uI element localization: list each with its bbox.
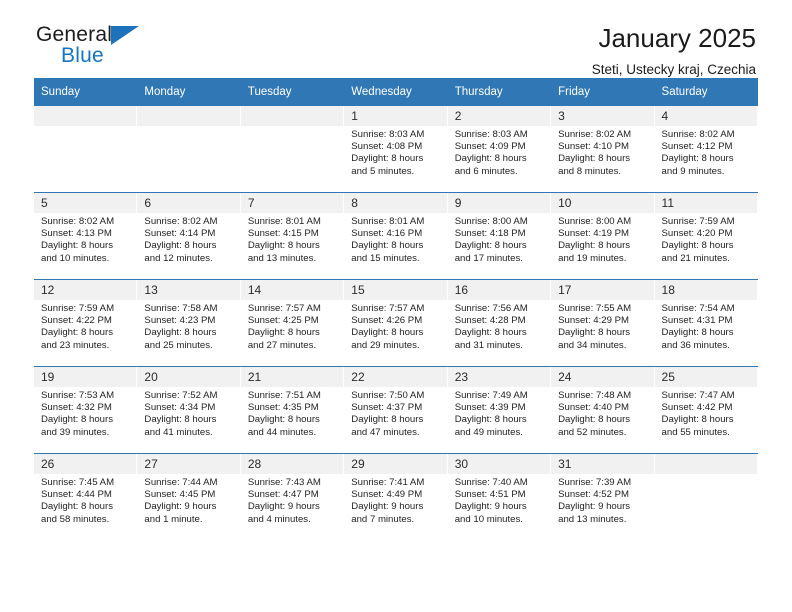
day-details	[655, 474, 757, 477]
day-detail-line: Sunrise: 8:00 AM	[558, 216, 647, 228]
day-box: 9Sunrise: 8:00 AMSunset: 4:18 PMDaylight…	[448, 193, 551, 279]
day-detail-line: Sunrise: 8:03 AM	[455, 129, 544, 141]
day-box: 25Sunrise: 7:47 AMSunset: 4:42 PMDayligh…	[655, 367, 758, 453]
day-details: Sunrise: 7:48 AMSunset: 4:40 PMDaylight:…	[551, 387, 653, 439]
day-number: 18	[655, 280, 757, 300]
day-detail-line: Daylight: 8 hours	[558, 153, 647, 165]
day-detail-line: Sunrise: 7:45 AM	[41, 477, 130, 489]
calendar-day-cell[interactable]: 13Sunrise: 7:58 AMSunset: 4:23 PMDayligh…	[137, 280, 240, 367]
day-details	[137, 126, 239, 129]
day-details: Sunrise: 7:40 AMSunset: 4:51 PMDaylight:…	[448, 474, 550, 526]
calendar-day-cell[interactable]: 28Sunrise: 7:43 AMSunset: 4:47 PMDayligh…	[241, 454, 344, 541]
calendar-day-cell[interactable]: 14Sunrise: 7:57 AMSunset: 4:25 PMDayligh…	[241, 280, 344, 367]
calendar-day-cell[interactable]: 18Sunrise: 7:54 AMSunset: 4:31 PMDayligh…	[655, 280, 758, 367]
day-number: 8	[344, 193, 446, 213]
calendar-week-row: 26Sunrise: 7:45 AMSunset: 4:44 PMDayligh…	[34, 454, 758, 541]
weekday-header-row: SundayMondayTuesdayWednesdayThursdayFrid…	[34, 78, 758, 106]
day-detail-line: and 19 minutes.	[558, 253, 647, 265]
day-detail-line: Sunrise: 7:49 AM	[455, 390, 544, 402]
day-number	[655, 454, 757, 474]
day-detail-line: Sunrise: 7:39 AM	[558, 477, 647, 489]
day-detail-line: and 6 minutes.	[455, 166, 544, 178]
day-detail-line: and 12 minutes.	[144, 253, 233, 265]
day-details: Sunrise: 8:02 AMSunset: 4:13 PMDaylight:…	[34, 213, 136, 265]
day-details: Sunrise: 7:53 AMSunset: 4:32 PMDaylight:…	[34, 387, 136, 439]
day-number: 15	[344, 280, 446, 300]
day-detail-line: Sunrise: 7:59 AM	[662, 216, 751, 228]
calendar-week-row: 1Sunrise: 8:03 AMSunset: 4:08 PMDaylight…	[34, 106, 758, 193]
day-number: 14	[241, 280, 343, 300]
day-number: 1	[344, 106, 446, 126]
day-detail-line: Sunrise: 8:01 AM	[351, 216, 440, 228]
day-detail-line: Sunset: 4:31 PM	[662, 315, 751, 327]
day-detail-line: Daylight: 8 hours	[558, 327, 647, 339]
day-detail-line: Sunset: 4:37 PM	[351, 402, 440, 414]
day-detail-line: Daylight: 8 hours	[558, 414, 647, 426]
day-details: Sunrise: 7:59 AMSunset: 4:22 PMDaylight:…	[34, 300, 136, 352]
day-details: Sunrise: 7:45 AMSunset: 4:44 PMDaylight:…	[34, 474, 136, 526]
day-detail-line: and 10 minutes.	[455, 514, 544, 526]
day-details: Sunrise: 8:01 AMSunset: 4:15 PMDaylight:…	[241, 213, 343, 265]
day-detail-line: Daylight: 9 hours	[558, 501, 647, 513]
day-details: Sunrise: 8:02 AMSunset: 4:10 PMDaylight:…	[551, 126, 653, 178]
day-details: Sunrise: 8:03 AMSunset: 4:09 PMDaylight:…	[448, 126, 550, 178]
day-detail-line: Sunset: 4:35 PM	[248, 402, 337, 414]
day-detail-line: Daylight: 8 hours	[455, 153, 544, 165]
day-detail-line: Sunrise: 8:00 AM	[455, 216, 544, 228]
day-detail-line: Sunset: 4:16 PM	[351, 228, 440, 240]
page-title: January 2025	[592, 22, 756, 54]
day-box: 27Sunrise: 7:44 AMSunset: 4:45 PMDayligh…	[137, 454, 240, 540]
calendar-week-row: 5Sunrise: 8:02 AMSunset: 4:13 PMDaylight…	[34, 193, 758, 280]
day-detail-line: Sunrise: 8:02 AM	[144, 216, 233, 228]
day-detail-line: Daylight: 8 hours	[248, 327, 337, 339]
day-detail-line: and 52 minutes.	[558, 427, 647, 439]
day-detail-line: Sunset: 4:12 PM	[662, 141, 751, 153]
calendar-week-row: 12Sunrise: 7:59 AMSunset: 4:22 PMDayligh…	[34, 280, 758, 367]
day-detail-line: Daylight: 8 hours	[41, 240, 130, 252]
day-detail-line: Daylight: 8 hours	[662, 414, 751, 426]
day-detail-line: Sunset: 4:52 PM	[558, 489, 647, 501]
day-detail-line: and 27 minutes.	[248, 340, 337, 352]
calendar-day-cell[interactable]: 6Sunrise: 8:02 AMSunset: 4:14 PMDaylight…	[137, 193, 240, 280]
day-number: 4	[655, 106, 757, 126]
day-number: 3	[551, 106, 653, 126]
day-detail-line: Sunset: 4:34 PM	[144, 402, 233, 414]
calendar-grid: SundayMondayTuesdayWednesdayThursdayFrid…	[34, 78, 758, 540]
day-box: 28Sunrise: 7:43 AMSunset: 4:47 PMDayligh…	[241, 454, 344, 540]
day-detail-line: Sunrise: 7:55 AM	[558, 303, 647, 315]
day-box: 23Sunrise: 7:49 AMSunset: 4:39 PMDayligh…	[448, 367, 551, 453]
day-detail-line: and 34 minutes.	[558, 340, 647, 352]
day-detail-line: Daylight: 8 hours	[248, 414, 337, 426]
day-details: Sunrise: 7:44 AMSunset: 4:45 PMDaylight:…	[137, 474, 239, 526]
day-box: 22Sunrise: 7:50 AMSunset: 4:37 PMDayligh…	[344, 367, 447, 453]
day-box: 29Sunrise: 7:41 AMSunset: 4:49 PMDayligh…	[344, 454, 447, 540]
day-number: 11	[655, 193, 757, 213]
day-detail-line: Daylight: 9 hours	[455, 501, 544, 513]
calendar-week-row: 19Sunrise: 7:53 AMSunset: 4:32 PMDayligh…	[34, 367, 758, 454]
day-detail-line: Sunset: 4:32 PM	[41, 402, 130, 414]
page-subtitle: Steti, Ustecky kraj, Czechia	[592, 60, 756, 80]
day-details: Sunrise: 7:55 AMSunset: 4:29 PMDaylight:…	[551, 300, 653, 352]
day-detail-line: Sunset: 4:47 PM	[248, 489, 337, 501]
day-number: 25	[655, 367, 757, 387]
day-detail-line: and 47 minutes.	[351, 427, 440, 439]
calendar-day-cell[interactable]: 2Sunrise: 8:03 AMSunset: 4:09 PMDaylight…	[448, 106, 551, 193]
day-detail-line: Sunrise: 8:02 AM	[662, 129, 751, 141]
calendar-day-cell[interactable]: 15Sunrise: 7:57 AMSunset: 4:26 PMDayligh…	[344, 280, 447, 367]
day-box: 8Sunrise: 8:01 AMSunset: 4:16 PMDaylight…	[344, 193, 447, 279]
day-number: 31	[551, 454, 653, 474]
day-detail-line: Daylight: 9 hours	[144, 501, 233, 513]
day-detail-line: and 10 minutes.	[41, 253, 130, 265]
calendar-page: General Blue January 2025 Steti, Ustecky…	[0, 0, 792, 612]
day-number: 19	[34, 367, 136, 387]
day-detail-line: Sunset: 4:13 PM	[41, 228, 130, 240]
calendar-day-cell[interactable]: 27Sunrise: 7:44 AMSunset: 4:45 PMDayligh…	[137, 454, 240, 541]
calendar-day-cell[interactable]: 17Sunrise: 7:55 AMSunset: 4:29 PMDayligh…	[551, 280, 654, 367]
day-details: Sunrise: 7:57 AMSunset: 4:25 PMDaylight:…	[241, 300, 343, 352]
day-details	[34, 126, 136, 129]
day-detail-line: Sunrise: 8:01 AM	[248, 216, 337, 228]
day-details: Sunrise: 8:00 AMSunset: 4:18 PMDaylight:…	[448, 213, 550, 265]
day-detail-line: Daylight: 9 hours	[351, 501, 440, 513]
calendar-empty-cell	[137, 106, 240, 193]
day-detail-line: Daylight: 8 hours	[455, 414, 544, 426]
calendar-empty-cell	[241, 106, 344, 193]
day-box: 19Sunrise: 7:53 AMSunset: 4:32 PMDayligh…	[34, 367, 137, 453]
day-details: Sunrise: 8:01 AMSunset: 4:16 PMDaylight:…	[344, 213, 446, 265]
day-detail-line: Sunrise: 8:03 AM	[351, 129, 440, 141]
day-number: 30	[448, 454, 550, 474]
day-detail-line: Sunset: 4:22 PM	[41, 315, 130, 327]
day-detail-line: and 4 minutes.	[248, 514, 337, 526]
day-detail-line: Sunrise: 7:58 AM	[144, 303, 233, 315]
day-detail-line: and 58 minutes.	[41, 514, 130, 526]
calendar-day-cell[interactable]: 7Sunrise: 8:01 AMSunset: 4:15 PMDaylight…	[241, 193, 344, 280]
day-box: 17Sunrise: 7:55 AMSunset: 4:29 PMDayligh…	[551, 280, 654, 366]
day-details: Sunrise: 7:39 AMSunset: 4:52 PMDaylight:…	[551, 474, 653, 526]
day-box: 4Sunrise: 8:02 AMSunset: 4:12 PMDaylight…	[655, 106, 758, 192]
calendar-day-cell[interactable]: 25Sunrise: 7:47 AMSunset: 4:42 PMDayligh…	[655, 367, 758, 454]
day-box: 12Sunrise: 7:59 AMSunset: 4:22 PMDayligh…	[34, 280, 137, 366]
day-detail-line: Daylight: 8 hours	[144, 327, 233, 339]
day-box: 7Sunrise: 8:01 AMSunset: 4:15 PMDaylight…	[241, 193, 344, 279]
day-detail-line: and 44 minutes.	[248, 427, 337, 439]
day-number: 13	[137, 280, 239, 300]
day-detail-line: and 8 minutes.	[558, 166, 647, 178]
day-number: 17	[551, 280, 653, 300]
day-detail-line: Daylight: 8 hours	[662, 240, 751, 252]
day-details: Sunrise: 7:57 AMSunset: 4:26 PMDaylight:…	[344, 300, 446, 352]
day-detail-line: Daylight: 8 hours	[662, 153, 751, 165]
day-number: 12	[34, 280, 136, 300]
calendar-day-cell[interactable]: 8Sunrise: 8:01 AMSunset: 4:16 PMDaylight…	[344, 193, 447, 280]
day-detail-line: and 5 minutes.	[351, 166, 440, 178]
day-detail-line: and 13 minutes.	[558, 514, 647, 526]
day-details: Sunrise: 8:00 AMSunset: 4:19 PMDaylight:…	[551, 213, 653, 265]
day-detail-line: Daylight: 8 hours	[351, 414, 440, 426]
day-detail-line: and 9 minutes.	[662, 166, 751, 178]
day-details: Sunrise: 7:51 AMSunset: 4:35 PMDaylight:…	[241, 387, 343, 439]
day-detail-line: and 31 minutes.	[455, 340, 544, 352]
day-number: 16	[448, 280, 550, 300]
day-detail-line: and 17 minutes.	[455, 253, 544, 265]
day-detail-line: Sunset: 4:09 PM	[455, 141, 544, 153]
day-detail-line: Sunrise: 7:59 AM	[41, 303, 130, 315]
day-number: 5	[34, 193, 136, 213]
day-box: 5Sunrise: 8:02 AMSunset: 4:13 PMDaylight…	[34, 193, 137, 279]
day-number: 20	[137, 367, 239, 387]
day-number	[34, 106, 136, 126]
day-box	[34, 106, 137, 192]
day-details: Sunrise: 8:02 AMSunset: 4:12 PMDaylight:…	[655, 126, 757, 178]
calendar-day-cell[interactable]: 3Sunrise: 8:02 AMSunset: 4:10 PMDaylight…	[551, 106, 654, 193]
day-detail-line: Sunset: 4:10 PM	[558, 141, 647, 153]
calendar-day-cell[interactable]: 23Sunrise: 7:49 AMSunset: 4:39 PMDayligh…	[448, 367, 551, 454]
weekday-header-friday: Friday	[551, 78, 654, 106]
calendar-day-cell[interactable]: 29Sunrise: 7:41 AMSunset: 4:49 PMDayligh…	[344, 454, 447, 541]
calendar-day-cell[interactable]: 10Sunrise: 8:00 AMSunset: 4:19 PMDayligh…	[551, 193, 654, 280]
day-number: 23	[448, 367, 550, 387]
day-detail-line: and 7 minutes.	[351, 514, 440, 526]
calendar-day-cell[interactable]: 21Sunrise: 7:51 AMSunset: 4:35 PMDayligh…	[241, 367, 344, 454]
day-detail-line: Daylight: 8 hours	[455, 327, 544, 339]
day-detail-line: Sunset: 4:28 PM	[455, 315, 544, 327]
day-detail-line: Sunset: 4:42 PM	[662, 402, 751, 414]
day-detail-line: Sunset: 4:29 PM	[558, 315, 647, 327]
calendar-day-cell[interactable]: 22Sunrise: 7:50 AMSunset: 4:37 PMDayligh…	[344, 367, 447, 454]
day-detail-line: Sunset: 4:51 PM	[455, 489, 544, 501]
day-details: Sunrise: 7:50 AMSunset: 4:37 PMDaylight:…	[344, 387, 446, 439]
day-detail-line: and 36 minutes.	[662, 340, 751, 352]
day-detail-line: Sunrise: 7:44 AM	[144, 477, 233, 489]
day-box: 1Sunrise: 8:03 AMSunset: 4:08 PMDaylight…	[344, 106, 447, 192]
day-detail-line: Sunrise: 8:02 AM	[558, 129, 647, 141]
day-detail-line: Sunrise: 7:54 AM	[662, 303, 751, 315]
day-detail-line: Daylight: 8 hours	[41, 501, 130, 513]
day-detail-line: Sunrise: 7:48 AM	[558, 390, 647, 402]
day-number: 21	[241, 367, 343, 387]
day-box	[655, 454, 758, 540]
day-detail-line: and 29 minutes.	[351, 340, 440, 352]
day-box: 10Sunrise: 8:00 AMSunset: 4:19 PMDayligh…	[551, 193, 654, 279]
calendar-day-cell[interactable]: 26Sunrise: 7:45 AMSunset: 4:44 PMDayligh…	[34, 454, 137, 541]
day-details: Sunrise: 8:02 AMSunset: 4:14 PMDaylight:…	[137, 213, 239, 265]
triangle-icon	[111, 26, 139, 45]
day-detail-line: and 1 minute.	[144, 514, 233, 526]
day-detail-line: Sunrise: 7:56 AM	[455, 303, 544, 315]
weekday-header-saturday: Saturday	[655, 78, 758, 106]
day-box: 13Sunrise: 7:58 AMSunset: 4:23 PMDayligh…	[137, 280, 240, 366]
day-detail-line: Daylight: 8 hours	[41, 414, 130, 426]
day-detail-line: Sunset: 4:08 PM	[351, 141, 440, 153]
calendar-day-cell[interactable]: 19Sunrise: 7:53 AMSunset: 4:32 PMDayligh…	[34, 367, 137, 454]
day-detail-line: Daylight: 8 hours	[662, 327, 751, 339]
calendar-day-cell[interactable]: 1Sunrise: 8:03 AMSunset: 4:08 PMDaylight…	[344, 106, 447, 193]
weekday-header-wednesday: Wednesday	[344, 78, 447, 106]
day-detail-line: Sunrise: 7:47 AM	[662, 390, 751, 402]
calendar-day-cell[interactable]: 31Sunrise: 7:39 AMSunset: 4:52 PMDayligh…	[551, 454, 654, 541]
day-detail-line: Sunrise: 7:57 AM	[248, 303, 337, 315]
weekday-header-monday: Monday	[137, 78, 240, 106]
day-details: Sunrise: 7:54 AMSunset: 4:31 PMDaylight:…	[655, 300, 757, 352]
day-box: 6Sunrise: 8:02 AMSunset: 4:14 PMDaylight…	[137, 193, 240, 279]
day-detail-line: and 49 minutes.	[455, 427, 544, 439]
weekday-header-tuesday: Tuesday	[241, 78, 344, 106]
day-box: 31Sunrise: 7:39 AMSunset: 4:52 PMDayligh…	[551, 454, 654, 540]
calendar-day-cell[interactable]: 24Sunrise: 7:48 AMSunset: 4:40 PMDayligh…	[551, 367, 654, 454]
day-detail-line: Sunset: 4:19 PM	[558, 228, 647, 240]
day-detail-line: Sunrise: 7:43 AM	[248, 477, 337, 489]
day-detail-line: Daylight: 8 hours	[248, 240, 337, 252]
day-details: Sunrise: 7:41 AMSunset: 4:49 PMDaylight:…	[344, 474, 446, 526]
calendar-empty-cell	[34, 106, 137, 193]
day-detail-line: and 25 minutes.	[144, 340, 233, 352]
day-box: 11Sunrise: 7:59 AMSunset: 4:20 PMDayligh…	[655, 193, 758, 279]
day-number: 9	[448, 193, 550, 213]
weekday-header-sunday: Sunday	[34, 78, 137, 106]
day-detail-line: Sunset: 4:49 PM	[351, 489, 440, 501]
day-box: 24Sunrise: 7:48 AMSunset: 4:40 PMDayligh…	[551, 367, 654, 453]
calendar-day-cell[interactable]: 16Sunrise: 7:56 AMSunset: 4:28 PMDayligh…	[448, 280, 551, 367]
day-detail-line: Daylight: 8 hours	[558, 240, 647, 252]
day-detail-line: and 41 minutes.	[144, 427, 233, 439]
day-details: Sunrise: 8:03 AMSunset: 4:08 PMDaylight:…	[344, 126, 446, 178]
day-detail-line: Sunset: 4:39 PM	[455, 402, 544, 414]
day-number	[137, 106, 239, 126]
day-detail-line: Sunrise: 7:53 AM	[41, 390, 130, 402]
day-box	[241, 106, 344, 192]
brand-name-bottom: Blue	[61, 45, 216, 67]
calendar-day-cell[interactable]: 12Sunrise: 7:59 AMSunset: 4:22 PMDayligh…	[34, 280, 137, 367]
calendar-empty-cell	[655, 454, 758, 541]
day-detail-line: Sunrise: 8:02 AM	[41, 216, 130, 228]
day-detail-line: Daylight: 8 hours	[455, 240, 544, 252]
day-details: Sunrise: 7:47 AMSunset: 4:42 PMDaylight:…	[655, 387, 757, 439]
day-detail-line: Daylight: 8 hours	[351, 153, 440, 165]
day-number: 28	[241, 454, 343, 474]
day-number: 2	[448, 106, 550, 126]
day-detail-line: Sunset: 4:23 PM	[144, 315, 233, 327]
day-box: 21Sunrise: 7:51 AMSunset: 4:35 PMDayligh…	[241, 367, 344, 453]
day-details: Sunrise: 7:58 AMSunset: 4:23 PMDaylight:…	[137, 300, 239, 352]
day-detail-line: Sunrise: 7:40 AM	[455, 477, 544, 489]
day-detail-line: Daylight: 8 hours	[351, 327, 440, 339]
day-details: Sunrise: 7:56 AMSunset: 4:28 PMDaylight:…	[448, 300, 550, 352]
calendar-day-cell[interactable]: 5Sunrise: 8:02 AMSunset: 4:13 PMDaylight…	[34, 193, 137, 280]
day-detail-line: Sunset: 4:20 PM	[662, 228, 751, 240]
day-detail-line: Sunset: 4:44 PM	[41, 489, 130, 501]
day-detail-line: Sunset: 4:40 PM	[558, 402, 647, 414]
day-number: 6	[137, 193, 239, 213]
calendar-day-cell[interactable]: 4Sunrise: 8:02 AMSunset: 4:12 PMDaylight…	[655, 106, 758, 193]
day-detail-line: Sunset: 4:26 PM	[351, 315, 440, 327]
day-detail-line: and 39 minutes.	[41, 427, 130, 439]
day-number: 26	[34, 454, 136, 474]
day-detail-line: Sunset: 4:15 PM	[248, 228, 337, 240]
brand-logo[interactable]: General Blue	[36, 24, 216, 74]
day-details: Sunrise: 7:59 AMSunset: 4:20 PMDaylight:…	[655, 213, 757, 265]
calendar-day-cell[interactable]: 30Sunrise: 7:40 AMSunset: 4:51 PMDayligh…	[448, 454, 551, 541]
day-detail-line: Daylight: 8 hours	[144, 240, 233, 252]
day-box: 2Sunrise: 8:03 AMSunset: 4:09 PMDaylight…	[448, 106, 551, 192]
day-number: 24	[551, 367, 653, 387]
day-detail-line: Daylight: 8 hours	[351, 240, 440, 252]
day-detail-line: Daylight: 8 hours	[144, 414, 233, 426]
day-box: 14Sunrise: 7:57 AMSunset: 4:25 PMDayligh…	[241, 280, 344, 366]
day-detail-line: and 13 minutes.	[248, 253, 337, 265]
day-detail-line: and 23 minutes.	[41, 340, 130, 352]
day-number	[241, 106, 343, 126]
day-detail-line: Sunrise: 7:52 AM	[144, 390, 233, 402]
day-detail-line: Sunrise: 7:51 AM	[248, 390, 337, 402]
day-number: 22	[344, 367, 446, 387]
day-detail-line: Sunrise: 7:57 AM	[351, 303, 440, 315]
day-box: 20Sunrise: 7:52 AMSunset: 4:34 PMDayligh…	[137, 367, 240, 453]
day-number: 29	[344, 454, 446, 474]
day-detail-line: Sunrise: 7:50 AM	[351, 390, 440, 402]
day-number: 7	[241, 193, 343, 213]
day-details	[241, 126, 343, 129]
day-details: Sunrise: 7:52 AMSunset: 4:34 PMDaylight:…	[137, 387, 239, 439]
day-details: Sunrise: 7:43 AMSunset: 4:47 PMDaylight:…	[241, 474, 343, 526]
day-detail-line: and 21 minutes.	[662, 253, 751, 265]
day-number: 10	[551, 193, 653, 213]
day-box: 18Sunrise: 7:54 AMSunset: 4:31 PMDayligh…	[655, 280, 758, 366]
day-detail-line: Sunset: 4:25 PM	[248, 315, 337, 327]
day-box	[137, 106, 240, 192]
day-detail-line: Sunset: 4:14 PM	[144, 228, 233, 240]
day-box: 3Sunrise: 8:02 AMSunset: 4:10 PMDaylight…	[551, 106, 654, 192]
day-box: 30Sunrise: 7:40 AMSunset: 4:51 PMDayligh…	[448, 454, 551, 540]
day-detail-line: Sunrise: 7:41 AM	[351, 477, 440, 489]
day-detail-line: Sunset: 4:18 PM	[455, 228, 544, 240]
day-detail-line: Daylight: 8 hours	[41, 327, 130, 339]
calendar-day-cell[interactable]: 11Sunrise: 7:59 AMSunset: 4:20 PMDayligh…	[655, 193, 758, 280]
day-box: 16Sunrise: 7:56 AMSunset: 4:28 PMDayligh…	[448, 280, 551, 366]
title-block: January 2025 Steti, Ustecky kraj, Czechi…	[592, 22, 756, 80]
weekday-header-thursday: Thursday	[448, 78, 551, 106]
day-detail-line: and 55 minutes.	[662, 427, 751, 439]
day-box: 26Sunrise: 7:45 AMSunset: 4:44 PMDayligh…	[34, 454, 137, 540]
calendar-day-cell[interactable]: 20Sunrise: 7:52 AMSunset: 4:34 PMDayligh…	[137, 367, 240, 454]
day-detail-line: Sunset: 4:45 PM	[144, 489, 233, 501]
day-detail-line: and 15 minutes.	[351, 253, 440, 265]
day-number: 27	[137, 454, 239, 474]
day-details: Sunrise: 7:49 AMSunset: 4:39 PMDaylight:…	[448, 387, 550, 439]
day-box: 15Sunrise: 7:57 AMSunset: 4:26 PMDayligh…	[344, 280, 447, 366]
page-header: General Blue January 2025 Steti, Ustecky…	[34, 0, 758, 78]
day-detail-line: Daylight: 9 hours	[248, 501, 337, 513]
calendar-day-cell[interactable]: 9Sunrise: 8:00 AMSunset: 4:18 PMDaylight…	[448, 193, 551, 280]
